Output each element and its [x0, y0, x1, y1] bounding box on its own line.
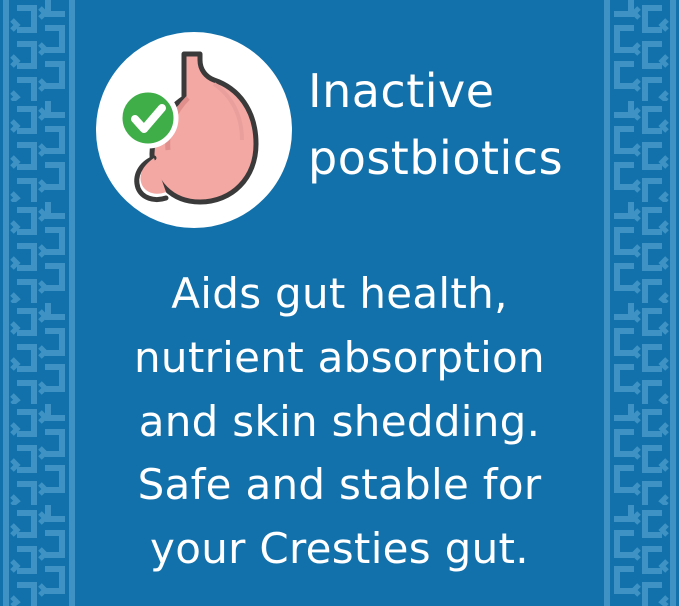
card-heading: Inactive postbiotics — [308, 58, 638, 191]
check-badge-icon — [120, 90, 176, 146]
body-line-3: and skin shedding. — [78, 390, 601, 454]
heading-line-1: Inactive — [308, 58, 638, 125]
product-benefit-card: Inactive postbiotics Aids gut health, nu… — [0, 0, 679, 606]
stomach-illustration-icon — [96, 32, 292, 228]
tribal-border-left — [0, 0, 78, 606]
body-line-4: Safe and stable for — [78, 453, 601, 517]
body-line-5: your Cresties gut. — [78, 517, 601, 581]
card-body-text: Aids gut health, nutrient absorption and… — [78, 262, 601, 581]
heading-line-2: postbiotics — [308, 125, 638, 192]
body-line-1: Aids gut health, — [78, 262, 601, 326]
body-line-2: nutrient absorption — [78, 326, 601, 390]
